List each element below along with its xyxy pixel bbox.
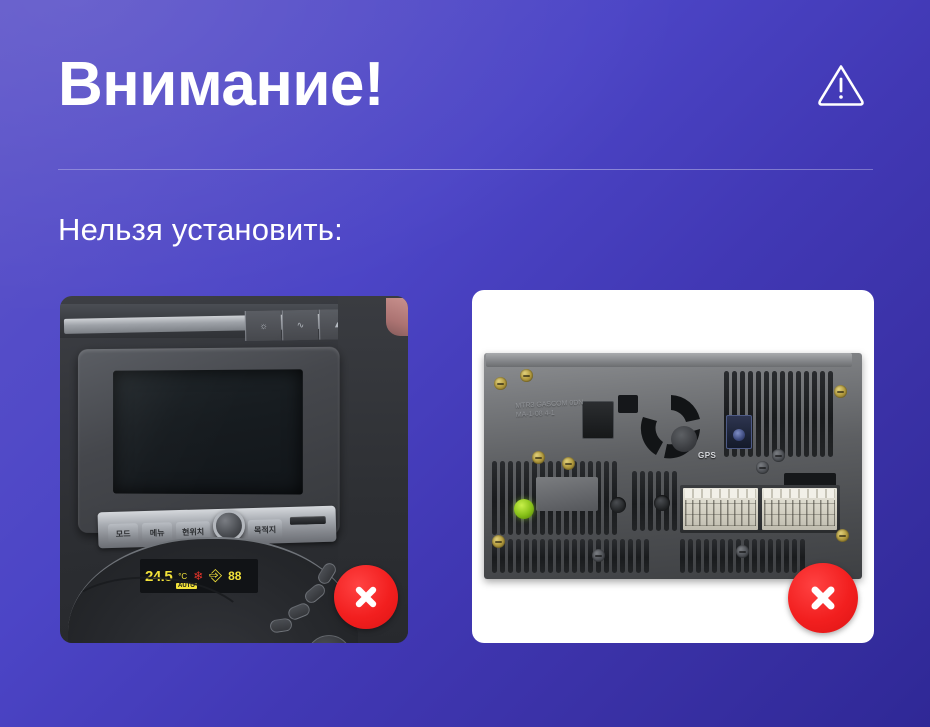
harness-connector-b — [762, 488, 837, 530]
head-unit-photo: GPS MTR3 GASCOM 0DN MA-1-08 4-1 — [484, 353, 862, 579]
chassis-screw — [494, 377, 507, 390]
fan-hub — [671, 426, 697, 452]
display-screen — [113, 369, 303, 494]
card-car-dashboard: ☼ ∿ ▲ 모드 메뉴 현위치 — [60, 296, 408, 643]
x-mark-icon — [788, 563, 858, 633]
chassis-screw — [756, 461, 769, 474]
climate-button[interactable] — [286, 601, 311, 621]
x-mark-icon — [334, 565, 398, 629]
chassis-screw — [836, 529, 849, 542]
photo-cards: ☼ ∿ ▲ 모드 메뉴 현위치 — [0, 0, 930, 727]
chassis-screw — [532, 451, 545, 464]
climate-button[interactable] — [302, 581, 327, 605]
antenna-socket — [582, 401, 614, 439]
connector-pins — [764, 500, 835, 526]
climate-button[interactable] — [269, 618, 293, 634]
green-status-led — [514, 499, 534, 519]
chassis-stamp-text: MTR3 GASCOM 0DN MA-1-08 4-1 — [515, 399, 587, 435]
warning-slide: Внимание! Нельзя установить: ☼ ∿ ▲ — [0, 0, 930, 727]
wiring-harness-connectors — [680, 485, 840, 533]
chassis-screw — [520, 369, 533, 382]
screen-glare — [113, 369, 303, 494]
chassis-screw — [736, 545, 749, 558]
connector-notch — [618, 395, 638, 413]
button-mode[interactable]: 모드 — [108, 523, 139, 544]
rear-defrost-icon: ∿ — [282, 310, 319, 341]
chassis-screw — [834, 385, 847, 398]
harness-connector-a — [683, 488, 758, 530]
fan-icon: ❄ — [193, 569, 203, 583]
dashboard-edge-highlight — [386, 298, 408, 336]
connector-keyway — [685, 489, 756, 498]
connector-pins — [685, 500, 756, 526]
chassis-screw — [492, 535, 505, 548]
climate-control-panel: 24.5 °C ❄ ⎆ 88 AUTO MODE — [68, 537, 358, 643]
chassis-plate — [536, 477, 598, 511]
chassis-screw — [562, 457, 575, 470]
gps-label: GPS — [698, 451, 716, 460]
top-mounting-rail — [486, 353, 852, 367]
defrost-icon: ☼ — [245, 310, 282, 341]
gps-port-center — [733, 429, 745, 441]
mounting-hole — [654, 495, 670, 511]
chassis-screw — [772, 449, 785, 462]
heatsink-fins — [492, 539, 649, 573]
seat-heater-icon: ⎆ — [209, 567, 222, 585]
lcd-blower-level: 88 — [228, 569, 241, 583]
connector-keyway — [764, 489, 835, 498]
button-destination[interactable]: 목적지 — [248, 519, 283, 540]
climate-button[interactable] — [316, 561, 339, 587]
chassis-screw — [592, 549, 605, 562]
mounting-hole — [610, 497, 626, 513]
gps-antenna-port — [726, 415, 752, 449]
disc-slot — [290, 516, 326, 525]
card-head-unit-rear: GPS MTR3 GASCOM 0DN MA-1-08 4-1 — [472, 290, 874, 643]
